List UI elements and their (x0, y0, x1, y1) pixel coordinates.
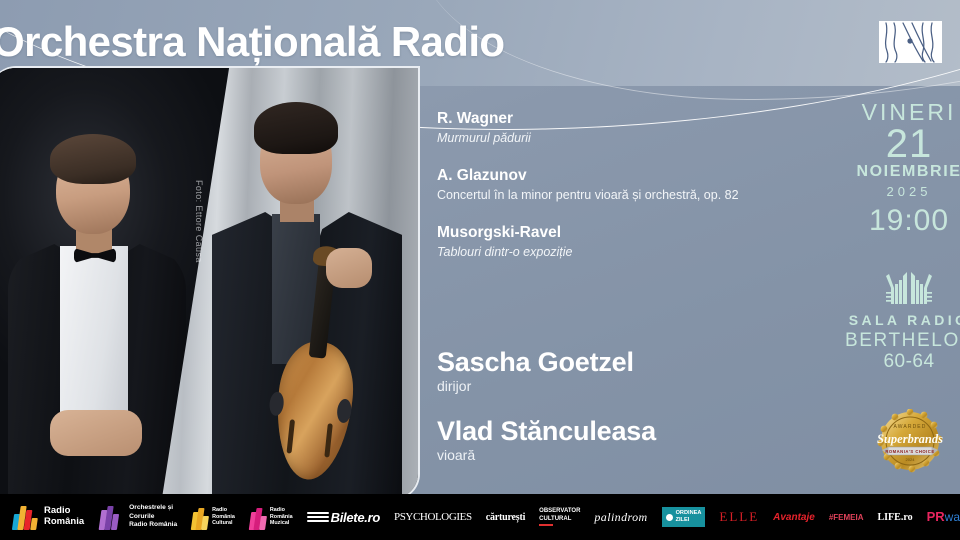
sponsor-line3: Cultural (212, 520, 232, 526)
sponsor-label: Radio România (44, 506, 84, 527)
sponsor-label: Bilete.ro (331, 510, 380, 525)
event-year: 2025 (838, 184, 960, 199)
sponsor-label: PSYCHOLOGIES (394, 511, 472, 523)
sponsor-line1: Radio (270, 507, 285, 513)
sponsor-line2: ZILEI (676, 517, 690, 523)
sponsor-line1: Orchestrele și (129, 504, 173, 511)
cultural-bars-icon (191, 504, 207, 530)
observator-underline (539, 524, 553, 526)
program-item: A. Glazunov Concertul în la minor pentru… (437, 166, 837, 205)
venue-street: BERTHELOT (838, 330, 960, 352)
sponsor-carturesti[interactable]: cărturești (479, 494, 532, 540)
sponsor-label: ELLE (719, 509, 759, 525)
sponsor-line2: CULTURAL (539, 516, 571, 522)
prwave-wave: wave (945, 510, 960, 524)
violinist-hand (326, 248, 372, 288)
event-time: 19:00 (838, 204, 960, 238)
program-work: Murmurul pădurii (437, 130, 837, 148)
radio-romania-bars-icon (13, 504, 39, 530)
program-item: R. Wagner Murmurul pădurii (437, 109, 837, 148)
venue-name: SALA RADIO (838, 312, 960, 328)
sponsor-observator-cultural[interactable]: OBSERVATOR CULTURAL (532, 494, 587, 540)
sponsor-line2: România (44, 516, 84, 527)
program-composer: R. Wagner (437, 109, 837, 128)
sponsor-label: OBSERVATOR CULTURAL (539, 508, 580, 527)
sala-radio-logo-icon (877, 266, 941, 306)
svg-text:2024: 2024 (906, 457, 916, 462)
venue-number: 60-64 (838, 352, 960, 373)
svg-text:ROMANIA'S CHOICE: ROMANIA'S CHOICE (885, 449, 934, 454)
violin-waist-right (336, 398, 352, 423)
sponsor-prwave[interactable]: PRwave (920, 494, 960, 540)
sponsor-bar: Radio România Orchestrele și Corurile Ra… (0, 494, 960, 540)
sponsor-psychologies[interactable]: PSYCHOLOGIES (387, 494, 479, 540)
sponsor-line2: România (270, 514, 293, 520)
sponsor-line1: Radio (44, 505, 70, 516)
sponsor-line1: Radio (212, 507, 227, 513)
program-work: Tablouri dintr-o expoziție (437, 244, 837, 262)
radio-romania-orchestras-logo (879, 21, 942, 63)
photo-credit: Foto: Ettore Causa (194, 180, 204, 263)
sponsor-label: Orchestrele și Corurile Radio România (129, 504, 177, 530)
program-composer: A. Glazunov (437, 166, 837, 185)
sponsor-label: #FEMEIA (829, 513, 864, 522)
sponsor-radio-romania-cultural[interactable]: Radio România Cultural (184, 494, 242, 540)
venue-block: SALA RADIO BERTHELOT 60-64 (838, 266, 960, 373)
sponsor-label: Radio România Cultural (212, 507, 235, 527)
sponsor-orchestrele-corurile[interactable]: Orchestrele și Corurile Radio România (91, 494, 184, 540)
event-info-column: VINERI 21 NOIEMBRIE 2025 19:00 (838, 100, 960, 373)
concert-poster: Orchestra Națională Radio (0, 0, 960, 540)
artist-photo-panel: Foto: Ettore Causa (0, 66, 420, 500)
ordinea-text: ORDINEA ZILEI (676, 510, 702, 524)
artist-role: vioară (437, 447, 837, 463)
ordinea-dot-icon (666, 514, 673, 521)
sponsor-label: Avantaje (773, 512, 815, 523)
sponsor-avantaje[interactable]: Avantaje (766, 494, 822, 540)
artist-name: Sascha Goetzel (437, 347, 837, 377)
sponsor-bilete-ro[interactable]: Bilete.ro (300, 494, 387, 540)
sponsor-radio-romania-muzical[interactable]: Radio România Muzical (242, 494, 300, 540)
sponsor-line3: Radio România (129, 521, 177, 528)
sponsor-line1: OBSERVATOR (539, 508, 580, 514)
bilete-ticket-icon (307, 511, 329, 524)
conductor-hands (50, 410, 142, 456)
page-title: Orchestra Națională Radio (0, 18, 504, 66)
superbrands-award-badge: AWARDED Superbrands ROMANIA'S CHOICE 202… (876, 409, 944, 477)
sponsor-line1: ORDINEA (676, 510, 702, 516)
sponsor-label: Radio România Muzical (270, 507, 293, 527)
conductor-hair (50, 134, 136, 184)
artist-role: dirijor (437, 378, 837, 394)
sponsor-label: palindrom (594, 510, 647, 525)
sponsor-label: cărturești (486, 512, 525, 523)
muzical-bars-icon (249, 504, 265, 530)
event-day-number: 21 (838, 124, 960, 164)
program-list: R. Wagner Murmurul pădurii A. Glazunov C… (437, 109, 837, 280)
svg-text:AWARDED: AWARDED (894, 424, 927, 430)
sponsor-radio-romania[interactable]: Radio România (6, 494, 91, 540)
prwave-pr: PR (927, 509, 945, 524)
sponsor-femeia[interactable]: #FEMEIA (822, 494, 871, 540)
violinist-hair (254, 102, 338, 154)
violinist-figure (198, 98, 418, 498)
artist-entry: Sascha Goetzel dirijor (437, 347, 837, 394)
sponsor-line2: Corurile (129, 513, 154, 520)
program-work: Concertul în la minor pentru vioară și o… (437, 187, 837, 205)
sponsor-palindrom[interactable]: palindrom (587, 494, 654, 540)
program-item: Musorgski-Ravel Tablouri dintr-o expoziț… (437, 223, 837, 262)
sponsor-ordinea-zilei[interactable]: ORDINEA ZILEI (655, 494, 713, 540)
sponsor-label: LIFE.ro (878, 512, 913, 523)
artist-credits: Sascha Goetzel dirijor Vlad Stănculeasa … (437, 347, 837, 485)
program-composer: Musorgski-Ravel (437, 223, 837, 242)
orchestras-bars-icon (98, 504, 124, 530)
artist-entry: Vlad Stănculeasa vioară (437, 416, 837, 463)
artist-name: Vlad Stănculeasa (437, 416, 837, 446)
sponsor-label: ORDINEA ZILEI (662, 507, 706, 527)
sponsor-line2: România (212, 514, 235, 520)
event-month: NOIEMBRIE (838, 163, 960, 181)
sponsor-elle[interactable]: ELLE (712, 494, 766, 540)
sponsor-label: PRwave (927, 508, 960, 526)
svg-text:Superbrands: Superbrands (877, 432, 943, 446)
sponsor-life-ro[interactable]: LIFE.ro (871, 494, 920, 540)
sponsor-line3: Muzical (270, 520, 289, 526)
